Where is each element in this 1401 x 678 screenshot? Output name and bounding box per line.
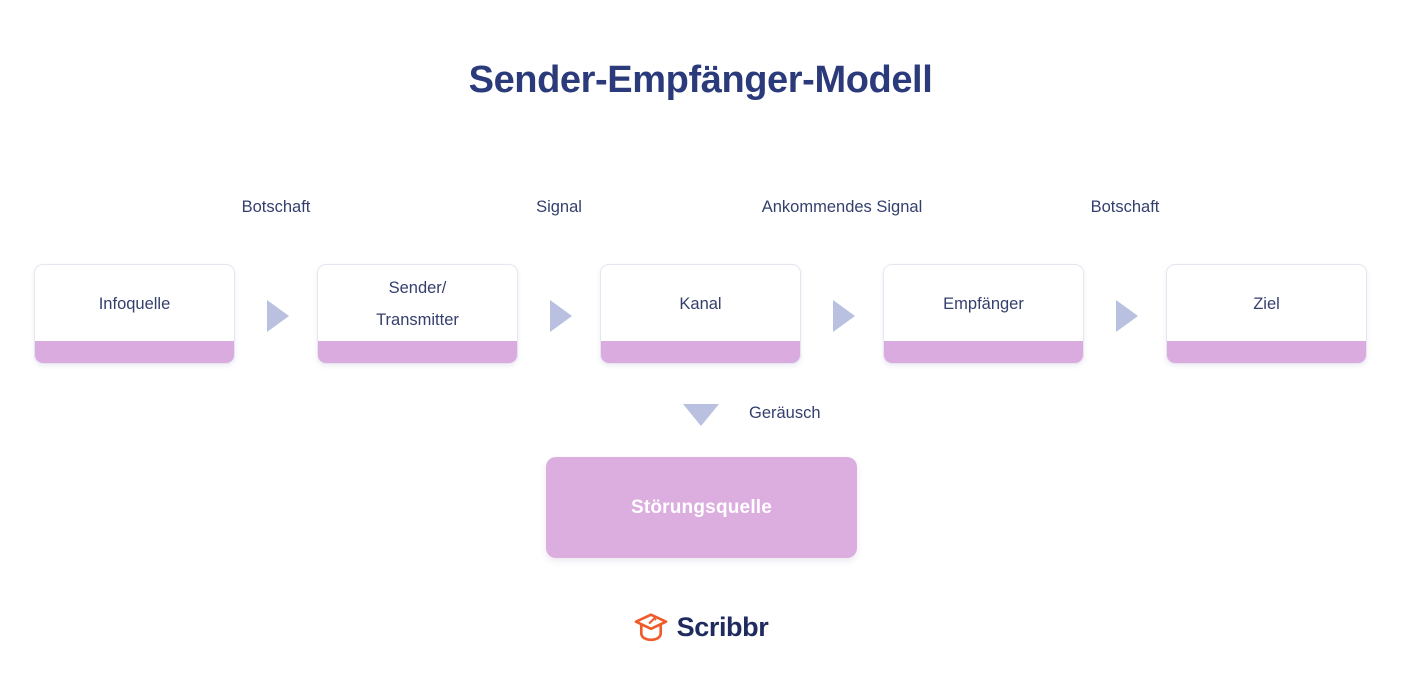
node-sender-transmitter: Sender/ Transmitter	[317, 264, 518, 364]
edge-label-signal: Signal	[536, 198, 582, 217]
node-noise-source: Störungsquelle	[546, 457, 857, 558]
node-accent-bar	[318, 341, 517, 363]
edge-label-message-2: Botschaft	[1091, 198, 1160, 217]
node-sender-transmitter-line1: Sender/	[376, 272, 459, 304]
node-receiver: Empfänger	[883, 264, 1084, 364]
node-sender-transmitter-line2: Transmitter	[376, 304, 459, 336]
node-destination-label: Ziel	[1167, 265, 1366, 343]
node-destination: Ziel	[1166, 264, 1367, 364]
diagram-canvas: Sender-Empfänger-Modell Botschaft Signal…	[0, 0, 1401, 678]
arrow-down-icon	[683, 404, 719, 426]
brand-name: Scribbr	[677, 614, 769, 641]
edge-label-incoming-signal: Ankommendes Signal	[762, 198, 923, 217]
node-accent-bar	[1167, 341, 1366, 363]
page-title: Sender-Empfänger-Modell	[0, 58, 1401, 104]
arrow-right-icon	[267, 300, 289, 332]
flow-row: Infoquelle Sender/ Transmitter Kanal Emp…	[0, 264, 1401, 364]
graduation-cap-icon	[633, 612, 669, 642]
node-receiver-label: Empfänger	[884, 265, 1083, 343]
arrow-right-icon	[1116, 300, 1138, 332]
node-accent-bar	[35, 341, 234, 363]
node-accent-bar	[884, 341, 1083, 363]
node-info-source-label: Infoquelle	[35, 265, 234, 343]
node-channel-label: Kanal	[601, 265, 800, 343]
edge-label-message-1: Botschaft	[242, 198, 311, 217]
node-sender-transmitter-label: Sender/ Transmitter	[318, 265, 517, 343]
node-accent-bar	[601, 341, 800, 363]
node-info-source: Infoquelle	[34, 264, 235, 364]
node-noise-source-label: Störungsquelle	[631, 497, 772, 519]
arrow-right-icon	[550, 300, 572, 332]
brand-logo: Scribbr	[0, 612, 1401, 642]
arrow-right-icon	[833, 300, 855, 332]
noise-arrow-label: Geräusch	[749, 404, 821, 423]
node-channel: Kanal	[600, 264, 801, 364]
